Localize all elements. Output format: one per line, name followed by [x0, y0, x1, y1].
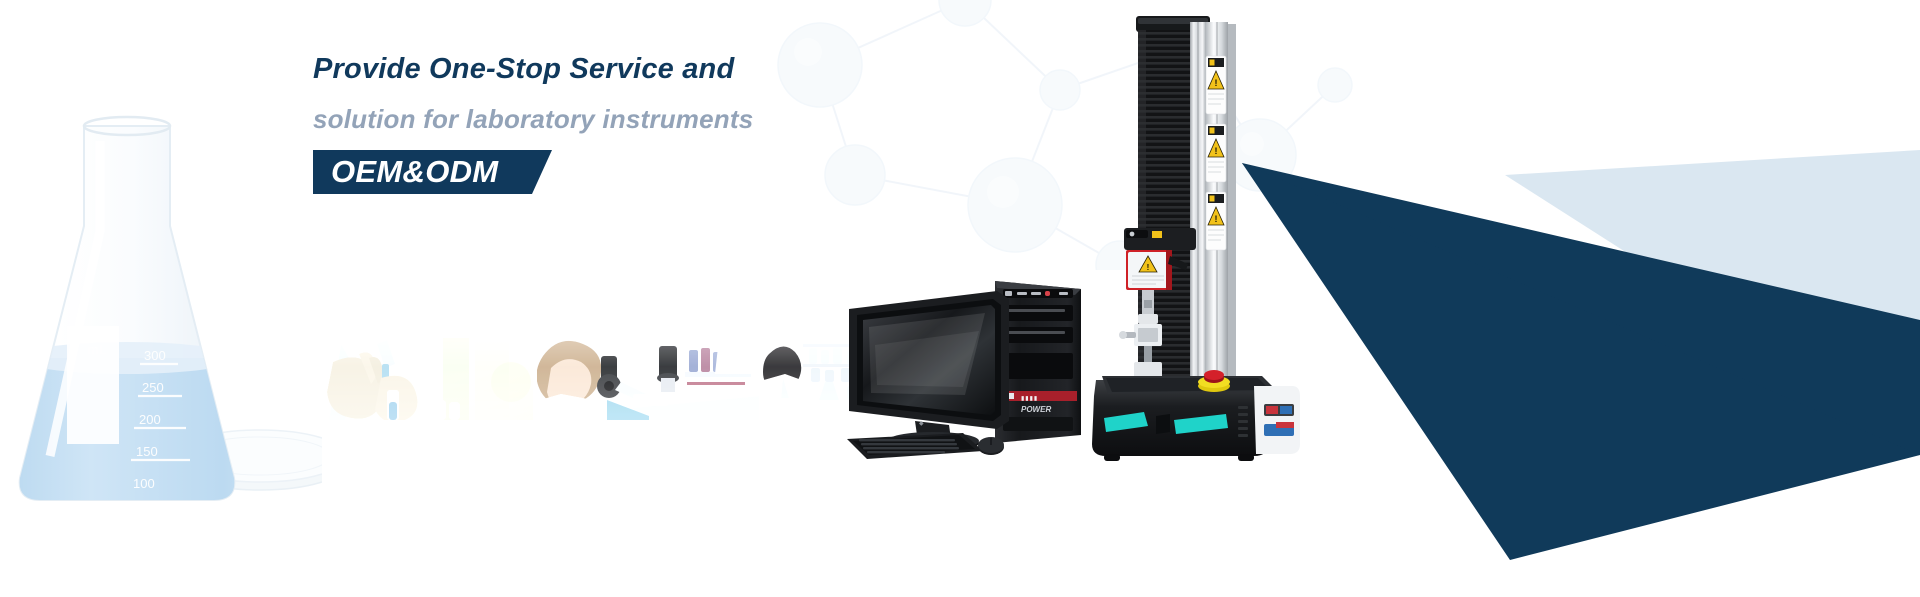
keyboard: [847, 433, 983, 459]
svg-text:mL: mL: [88, 342, 106, 357]
svg-text:▮▮▮▮: ▮▮▮▮: [1021, 396, 1038, 402]
oem-odm-tag: OEM&ODM: [313, 150, 532, 194]
svg-text:!: !: [1215, 146, 1218, 156]
headline-line-1: Provide One-Stop Service and: [313, 55, 833, 84]
svg-text:250: 250: [142, 380, 164, 395]
svg-text:!: !: [1147, 263, 1150, 272]
svg-text:◆: ◆: [919, 421, 924, 427]
warning-label-group: ! !: [1206, 56, 1226, 250]
svg-text:200: 200: [139, 412, 161, 427]
erlenmeyer-flask-photo: 300 250 200 150 100 mL: [0, 96, 322, 516]
svg-text:300: 300: [144, 348, 166, 363]
photo-pipetting-gloves: [325, 338, 533, 420]
svg-text:!: !: [1215, 78, 1218, 88]
svg-text:POWER: POWER: [1021, 405, 1051, 414]
oem-odm-tag-wrapper: OEM&ODM: [313, 150, 532, 194]
mouse: [978, 437, 1004, 455]
headline-block: Provide One-Stop Service and solution fo…: [313, 55, 833, 194]
monitor: ◆: [849, 291, 1009, 452]
machine-base: [1092, 370, 1300, 461]
pale-blue-triangle: [1360, 0, 1920, 560]
svg-text:150: 150: [136, 444, 158, 459]
universal-tensile-testing-machine: ! !: [1078, 14, 1308, 464]
headline-line-2: solution for laboratory instruments: [313, 106, 833, 132]
svg-text:!: !: [1215, 214, 1218, 224]
svg-text:100: 100: [133, 476, 155, 491]
photo-microscope-researcher: [537, 338, 759, 420]
promo-banner: 300 250 200 150 100 mL Provide One-Stop …: [0, 0, 1920, 597]
desktop-computer-workstation: ▮▮▮▮ POWER ◆: [845, 275, 1095, 465]
